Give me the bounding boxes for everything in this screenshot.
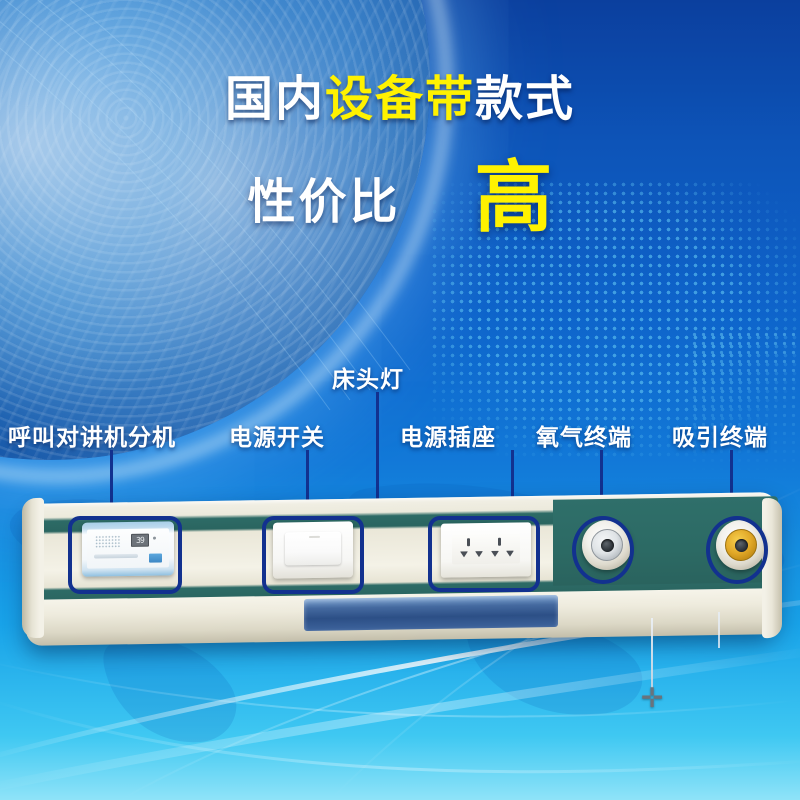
panel-end-cap-right bbox=[762, 498, 782, 638]
pull-cord[interactable] bbox=[651, 618, 653, 690]
callout-label-oxygen-outlet: 氧气终端 bbox=[536, 418, 632, 452]
callout-layer: 呼叫对讲机分机 电源开关 床头灯 电源插座 氧气终端 吸引终端 bbox=[0, 0, 800, 800]
callout-label-bedside-lamp: 床头灯 bbox=[332, 360, 404, 394]
highlight-box-power-socket bbox=[428, 516, 540, 592]
callout-label-intercom: 呼叫对讲机分机 bbox=[8, 418, 176, 452]
callout-label-power-switch: 电源开关 bbox=[229, 418, 325, 452]
callout-label-power-socket: 电源插座 bbox=[400, 418, 496, 452]
highlight-box-intercom bbox=[68, 516, 182, 594]
poster-canvas: 国内设备带款式 性价比 高 呼叫对讲机分机 电源开关 床头灯 电源插座 氧气终端… bbox=[0, 0, 800, 800]
panel-end-cap-left bbox=[22, 498, 44, 638]
pull-cord-handle[interactable]: ✛ bbox=[638, 684, 666, 712]
bedside-lamp-diffuser[interactable] bbox=[304, 595, 558, 631]
callout-label-suction-outlet: 吸引终端 bbox=[672, 418, 768, 452]
suction-drain-line bbox=[718, 612, 720, 648]
highlight-circle-suction bbox=[706, 516, 768, 584]
highlight-circle-oxygen bbox=[572, 516, 634, 584]
highlight-box-power-switch bbox=[262, 516, 364, 594]
